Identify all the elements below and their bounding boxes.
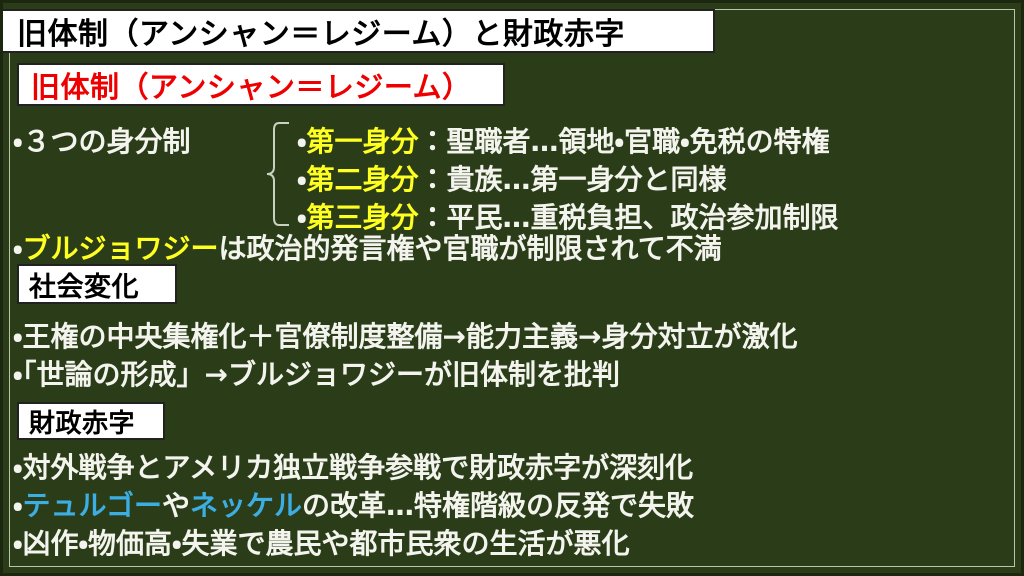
bourgeoisie-line: ・ブルジョワジーは政治的発言権や官職が制限されて不満 [13, 227, 722, 267]
slide-canvas: 旧体制（アンシャン＝レジーム）と財政赤字 旧体制（アンシャン＝レジーム） ・３つ… [0, 0, 1024, 576]
estate-item-first: ・第一身分：聖職者…領地・官職・免税の特権 [297, 120, 830, 160]
section-heading-fiscal-deficit: 財政赤字 [17, 402, 165, 440]
estate-term-second: 第二身分 [307, 163, 419, 196]
estate-term-first: 第一身分 [307, 125, 419, 158]
bourgeoisie-term: ブルジョワジー [23, 232, 219, 265]
fiscal-bullet: ・ [13, 489, 23, 522]
fiscal-deficit-line-2: ・テュルゴーやネッケルの改革…特権階級の反発で失敗 [13, 484, 694, 524]
estates-lead-text: ・３つの身分制 [13, 120, 191, 160]
bourgeoisie-bullet: ・ [13, 232, 23, 265]
estate-desc-first: ：聖職者…領地・官職・免税の特権 [419, 125, 830, 158]
estate-bullet: ・ [297, 125, 307, 158]
reformer-name-necker: ネッケル [190, 489, 302, 522]
fiscal-conjunction: や [162, 489, 190, 522]
bourgeoisie-desc: は政治的発言権や官職が制限されて不満 [219, 232, 722, 265]
slide-title: 旧体制（アンシャン＝レジーム）と財政赤字 [3, 9, 715, 53]
reformer-name-turgot: テュルゴー [23, 489, 162, 522]
fiscal-deficit-line-1: ・対外戦争とアメリカ独立戦争参戦で財政赤字が深刻化 [13, 446, 693, 486]
fiscal-deficit-line-3: ・凶作・物価高・失業で農民や都市民衆の生活が悪化 [13, 522, 630, 562]
social-change-line-1: ・王権の中央集権化＋官僚制度整備→能力主義→身分対立が激化 [13, 315, 797, 355]
estate-bullet: ・ [297, 163, 307, 196]
estate-desc-second: ：貴族…第一身分と同様 [419, 163, 727, 196]
social-change-line-2: ・「世論の形成」→ブルジョワジーが旧体制を批判 [13, 353, 620, 393]
section-heading-ancien-regime: 旧体制（アンシャン＝レジーム） [17, 63, 505, 106]
left-curly-brace-icon [265, 121, 291, 227]
section-heading-social-change: 社会変化 [17, 264, 177, 304]
estate-item-second: ・第二身分：貴族…第一身分と同様 [297, 158, 727, 198]
fiscal-deficit-line-2-rest: の改革…特権階級の反発で失敗 [302, 489, 694, 522]
